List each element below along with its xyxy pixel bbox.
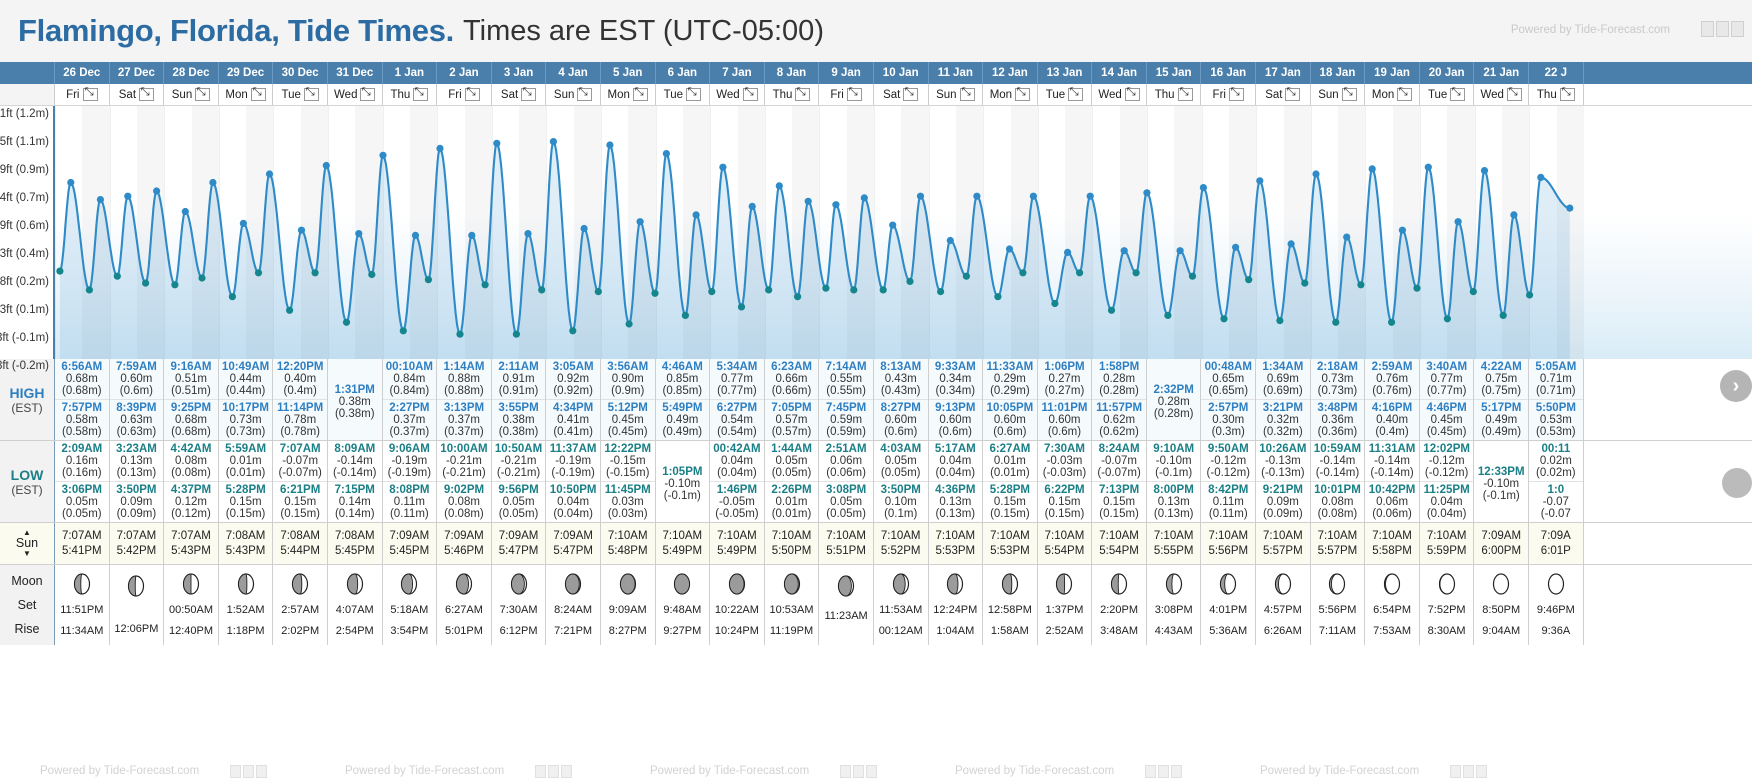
tide-time: 1:31PM (335, 384, 375, 396)
tide-time: 4:37PM (171, 484, 211, 496)
tide-time: 5:12PM (608, 402, 648, 414)
next-days-button[interactable]: › (1720, 370, 1752, 402)
sunset-time: 5:52PM (881, 545, 921, 557)
low-tide-event: 9:10AM-0.10m(-0.1m) (1147, 441, 1201, 481)
moon-phase-icon (1546, 573, 1566, 595)
tide-height-alt: (0.44m) (226, 385, 266, 397)
tide-height: 0.36m (1321, 414, 1353, 426)
moonset-time: 9:09AM (609, 604, 647, 616)
tide-height: 0.51m (175, 373, 207, 385)
weekday-cell[interactable]: Fri (1201, 84, 1256, 105)
date-cell[interactable]: 8 Jan (765, 62, 820, 84)
date-cell[interactable]: 21 Jan (1474, 62, 1529, 84)
weekday-cell[interactable]: Sat (1256, 84, 1311, 105)
moon-cell: 12:24PM1:04AM (929, 565, 984, 645)
tide-height: 0.38m (503, 414, 535, 426)
low-tide-event: 4:37PM0.12m(0.12m) (164, 481, 218, 522)
tide-height-alt: (-0.14m) (1370, 467, 1413, 479)
tide-height-alt: (0.11m) (390, 508, 429, 520)
flag-icon (548, 765, 559, 778)
moon-phase-icon (1218, 573, 1238, 595)
tide-height: -0.07m (1101, 455, 1137, 467)
expand-icon[interactable] (195, 88, 210, 101)
low-tide-marker (822, 285, 829, 292)
low-tide-marker (794, 293, 801, 300)
sunset-time: 5:49PM (717, 545, 757, 557)
moon-phase-icon (891, 573, 911, 595)
date-cell[interactable]: 11 Jan (929, 62, 984, 84)
tide-time: 5:49PM (662, 402, 702, 414)
high-tide-marker (524, 230, 531, 237)
tide-height: 0.08m (448, 496, 480, 508)
low-tide-marker (425, 276, 432, 283)
sunset-time: 5:55PM (1154, 545, 1194, 557)
date-cell[interactable]: 26 Dec (55, 62, 110, 84)
expand-icon[interactable] (743, 88, 758, 101)
tide-column: 2:09AM0.16m(0.16m)3:06PM0.05m(0.05m) (55, 441, 110, 522)
tide-column: 1:34AM0.69m(0.69m)3:21PM0.32m(0.32m) (1256, 359, 1311, 440)
tide-height: 0.29m (994, 373, 1026, 385)
sun-row: Sun 7:07AM5:41PM7:07AM5:42PM7:07AM5:43PM… (0, 523, 1752, 565)
moonset-time: 8:50PM (1482, 604, 1520, 616)
expand-icon[interactable] (960, 88, 975, 101)
tide-height-alt: (0.62m) (1099, 426, 1139, 438)
tide-height: 0.11m (394, 496, 425, 508)
date-cell[interactable]: 28 Dec (164, 62, 219, 84)
date-cell[interactable]: 7 Jan (710, 62, 765, 84)
date-cell[interactable]: 6 Jan (656, 62, 711, 84)
date-cell[interactable]: 29 Dec (219, 62, 274, 84)
tide-height-alt: (0.6m) (120, 385, 153, 397)
tide-height: 0.71m (1540, 373, 1572, 385)
high-tide-event: 10:49AM0.44m(0.44m) (219, 359, 273, 399)
high-tide-marker (266, 170, 273, 177)
tide-height-alt: (0.28m) (1099, 385, 1139, 397)
expand-icon[interactable] (413, 88, 428, 101)
tide-height: 0.14m (339, 496, 371, 508)
tide-time: 6:22PM (1044, 484, 1084, 496)
high-tide-marker (947, 237, 954, 244)
weekday-label: Sat (883, 89, 900, 101)
tide-time: 5:28PM (990, 484, 1030, 496)
weekday-label: Tue (281, 89, 300, 101)
tide-height-alt: (0.76m) (1372, 385, 1412, 397)
tide-time: 10:01PM (1314, 484, 1361, 496)
sunset-time: 5:54PM (1045, 545, 1085, 557)
tide-height: 0.85m (666, 373, 698, 385)
tide-height-alt: (0.6m) (1048, 426, 1081, 438)
high-tide-event: 1:06PM0.27m(0.27m) (1038, 359, 1092, 399)
tide-height-alt: (0.04m) (935, 467, 975, 479)
tide-height-alt: (0.78m) (280, 426, 320, 438)
weekday-cell[interactable]: Sat (874, 84, 929, 105)
low-tide-marker (682, 312, 689, 319)
weekday-cell[interactable]: Wed (1474, 84, 1529, 105)
weekday-label: Fri (1213, 89, 1226, 101)
weekday-cell[interactable]: Thu (1529, 84, 1584, 105)
tide-height: 0.15m (230, 496, 262, 508)
date-cell[interactable]: 19 Jan (1365, 62, 1420, 84)
tide-time: 5:17PM (1481, 402, 1521, 414)
tide-time: 00:11 (1541, 443, 1570, 455)
y-axis-tick: 0.8ft (0.2m) (0, 276, 49, 288)
tide-height: 0.69m (1267, 373, 1299, 385)
weekday-cell[interactable]: Mon (601, 84, 656, 105)
flag-icon-3[interactable] (1731, 21, 1744, 37)
weekday-cell[interactable]: Mon (219, 84, 274, 105)
moon-phase-icon (290, 573, 310, 595)
weekday-cell[interactable]: Thu (1147, 84, 1202, 105)
y-axis-tick: 2.9ft (0.9m) (0, 164, 49, 176)
date-cell[interactable]: 18 Jan (1311, 62, 1366, 84)
expand-icon[interactable] (1229, 88, 1244, 101)
low-tide-event: 9:56PM0.05m(0.05m) (492, 481, 546, 522)
high-tide-event: 3:40AM0.77m(0.77m) (1420, 359, 1474, 399)
tide-time: 00:10AM (386, 361, 433, 373)
date-cell[interactable]: 4 Jan (546, 62, 601, 84)
moon-phase-icon (727, 573, 747, 595)
high-tide-marker (663, 150, 670, 157)
tide-time: 10:17PM (222, 402, 269, 414)
sun-cell: 7:10AM5:54PM (1092, 523, 1147, 564)
tide-height: 0.65m (1212, 373, 1244, 385)
weekday-cell[interactable]: Fri (819, 84, 874, 105)
sun-cell: 7:08AM5:44PM (273, 523, 328, 564)
low-tide-marker (142, 280, 149, 287)
tide-height-alt: (0.73m) (1318, 385, 1358, 397)
tide-time: 1:14AM (444, 361, 485, 373)
moonrise-label: Rise (14, 622, 39, 636)
flag-icon (1450, 765, 1461, 778)
high-tide-event: 3:55PM0.38m(0.38m) (492, 399, 546, 440)
moonset-time: 6:54PM (1373, 604, 1411, 616)
tide-time: 00:42AM (713, 443, 760, 455)
low-tide-marker (1245, 276, 1252, 283)
tide-height-alt: (0.91m) (499, 385, 539, 397)
expand-icon[interactable] (686, 88, 701, 101)
moonrise-time: 2:02PM (281, 625, 319, 637)
date-cell[interactable]: 31 Dec (328, 62, 383, 84)
moonset-time: 12:58PM (988, 604, 1032, 616)
tide-column: 2:32PM0.28m(0.28m)2:32PM0.28m(0.28m) (1147, 359, 1202, 440)
tide-height: 0.04m (1431, 496, 1463, 508)
date-header-row: 26 Dec27 Dec28 Dec29 Dec30 Dec31 Dec1 Ja… (0, 62, 1752, 84)
date-cell[interactable]: 30 Dec (273, 62, 328, 84)
moonrise-time: 7:53AM (1373, 625, 1411, 637)
high-tide-marker (1121, 247, 1128, 254)
tide-time: 7:30AM (1044, 443, 1085, 455)
tide-height-alt: (-0.19m) (551, 467, 594, 479)
moon-cell: 10:22AM10:24PM (710, 565, 765, 645)
tide-time: 1:06PM (1044, 361, 1084, 373)
high-tide-marker (1288, 240, 1295, 247)
expand-icon[interactable] (521, 88, 536, 101)
expand-icon[interactable] (795, 88, 810, 101)
sun-label-text: Sun (16, 529, 38, 558)
high-tide-marker (1343, 234, 1350, 241)
date-cell[interactable]: 14 Jan (1092, 62, 1147, 84)
low-tide-marker (1357, 281, 1364, 288)
weekday-label: Tue (1428, 89, 1447, 101)
high-tide-event: 11:57PM0.62m(0.62m) (1092, 399, 1146, 440)
expand-icon[interactable] (1015, 88, 1030, 101)
tide-column: 12:02PM-0.12m(-0.12m)11:25PM0.04m(0.04m) (1420, 441, 1475, 522)
high-tide-marker (379, 152, 386, 159)
date-cell[interactable]: 16 Jan (1201, 62, 1256, 84)
moonrise-time: 7:11AM (1319, 625, 1356, 637)
tide-height: 0.11m (1213, 496, 1244, 508)
flag-icon (256, 765, 267, 778)
low-tide-marker (1220, 315, 1227, 322)
footer-flag-icons (535, 765, 572, 778)
high-tide-marker (805, 198, 812, 205)
weekday-cell[interactable]: Fri (437, 84, 492, 105)
expand-icon[interactable] (1285, 88, 1300, 101)
tide-height: 0.34m (939, 373, 971, 385)
high-tide-marker (436, 145, 443, 152)
date-cell[interactable]: 15 Jan (1147, 62, 1202, 84)
weekday-cell[interactable]: Fri (55, 84, 110, 105)
weekday-cell[interactable]: Sun (164, 84, 219, 105)
date-cell[interactable]: 12 Jan (983, 62, 1038, 84)
tide-height-alt: (0.05m) (881, 467, 921, 479)
tide-height: 0.32m (1267, 414, 1299, 426)
tide-time: 6:23AM (771, 361, 812, 373)
expand-icon[interactable] (1178, 88, 1193, 101)
moonset-time: 7:30AM (500, 604, 538, 616)
moon-phase-icon (72, 573, 92, 595)
low-tide-event: 6:21PM0.15m(0.15m) (273, 481, 327, 522)
tide-column: 1:44AM0.05m(0.05m)2:26PM0.01m(0.01m) (765, 441, 820, 522)
sunset-time: 5:59PM (1427, 545, 1467, 557)
date-cell[interactable]: 2 Jan (437, 62, 492, 84)
moonrise-time: 5:01PM (445, 625, 483, 637)
expand-icon[interactable] (577, 88, 592, 101)
tide-height-alt: (0.08m) (171, 467, 211, 479)
tide-column: 3:56AM0.90m(0.9m)5:12PM0.45m(0.45m) (601, 359, 656, 440)
low-tide-marker (1019, 269, 1026, 276)
sunrise-time: 7:08AM (335, 530, 375, 542)
page-subtitle: Times are EST (UTC-05:00) (463, 15, 824, 48)
tide-time: 9:25PM (171, 402, 211, 414)
high-tide-event: 2:59AM0.76m(0.76m) (1365, 359, 1419, 399)
tide-height: 0.84m (393, 373, 425, 385)
tide-height: 0.10m (885, 496, 917, 508)
tide-height: 0.57m (776, 414, 808, 426)
expand-icon[interactable] (1507, 88, 1522, 101)
low-tide-event: 1:0-0.07(-0.07 (1529, 481, 1583, 522)
low-tide-marker (482, 281, 489, 288)
y-axis-tick: 0.3ft (0.1m) (0, 304, 49, 316)
tide-column: 00:10AM0.84m(0.84m)2:27PM0.37m(0.37m) (383, 359, 438, 440)
tide-time: 10:42PM (1369, 484, 1416, 496)
expand-icon[interactable] (633, 88, 648, 101)
moon-cell: 4:01PM5:36AM (1201, 565, 1256, 645)
sun-cell: 7:10AM5:57PM (1256, 523, 1311, 564)
tide-height-alt: (0.02m) (1536, 467, 1576, 479)
low-tide-marker (1500, 312, 1507, 319)
language-flags[interactable] (1701, 21, 1744, 37)
tide-height: 0.01m (776, 496, 808, 508)
tide-height: 0.49m (1485, 414, 1517, 426)
tide-time: 4:34PM (553, 402, 593, 414)
flag-icon (1171, 765, 1182, 778)
tide-column: 7:14AM0.55m(0.55m)7:45PM0.59m(0.59m) (819, 359, 874, 440)
high-tide-marker (468, 232, 475, 239)
high-tide-marker (1481, 167, 1488, 174)
expand-icon[interactable] (251, 88, 266, 101)
sun-label: Sun (0, 523, 55, 564)
expand-icon[interactable] (1450, 88, 1465, 101)
high-tide-marker (973, 193, 980, 200)
expand-icon[interactable] (465, 88, 480, 101)
date-cell[interactable]: 1 Jan (383, 62, 438, 84)
weekday-cell[interactable]: Thu (765, 84, 820, 105)
low-tide-event: 00:42AM0.04m(0.04m) (710, 441, 764, 481)
weekday-cell[interactable]: Mon (983, 84, 1038, 105)
tide-time: 1:44AM (771, 443, 812, 455)
low-tide-marker (1413, 285, 1420, 292)
weekday-cell[interactable]: Thu (383, 84, 438, 105)
expand-icon[interactable] (360, 88, 375, 101)
flag-icon (243, 765, 254, 778)
weekday-cell[interactable]: Sat (492, 84, 547, 105)
low-tide-marker (538, 286, 545, 293)
tide-curve (55, 106, 1752, 359)
expand-icon[interactable] (83, 88, 98, 101)
date-cell[interactable]: 22 J (1529, 62, 1584, 84)
sunrise-time: 7:10AM (990, 530, 1030, 542)
low-tide-marker (56, 268, 63, 275)
tide-height-alt: (0.04m) (717, 467, 757, 479)
weekday-cell[interactable]: Sun (929, 84, 984, 105)
moon-phase-icon (126, 575, 146, 597)
weekday-cell[interactable]: Wed (1092, 84, 1147, 105)
sunrise-time: 7:10AM (608, 530, 648, 542)
date-cell[interactable]: 20 Jan (1420, 62, 1475, 84)
flag-icon-1[interactable] (1701, 21, 1714, 37)
expand-icon[interactable] (847, 88, 862, 101)
tide-height-alt: (0.04m) (553, 508, 593, 520)
sun-cell: 7:10AM5:55PM (1147, 523, 1202, 564)
tide-time: 11:14PM (277, 402, 323, 414)
tide-column: 4:03AM0.05m(0.05m)3:50PM0.10m(0.1m) (874, 441, 929, 522)
tide-time: 7:13PM (1099, 484, 1139, 496)
expand-icon[interactable] (139, 88, 154, 101)
low-tide-event: 3:08PM0.05m(0.05m) (819, 481, 873, 522)
tide-height-alt: (0.66m) (772, 385, 812, 397)
tide-height-alt: (0.53m) (1536, 426, 1576, 438)
expand-icon[interactable] (1560, 88, 1575, 101)
date-cell[interactable]: 17 Jan (1256, 62, 1311, 84)
date-cell[interactable]: 5 Jan (601, 62, 656, 84)
tide-height-alt: (0.32m) (1263, 426, 1303, 438)
tide-height: 0.40m (284, 373, 316, 385)
date-cell[interactable]: 13 Jan (1038, 62, 1093, 84)
weekday-cell[interactable]: Tue (1420, 84, 1475, 105)
tide-time: 3:21PM (1263, 402, 1303, 414)
tide-time: 1:0 (1548, 484, 1565, 496)
sun-cell: 7:08AM5:43PM (219, 523, 274, 564)
sun-cell: 7:10AM5:58PM (1365, 523, 1420, 564)
weekday-cell[interactable]: Sat (110, 84, 165, 105)
weekday-cell[interactable]: Wed (710, 84, 765, 105)
tide-height-alt: (-0.14m) (1316, 467, 1359, 479)
tide-height: -0.21m (446, 455, 482, 467)
moonset-time: 5:56PM (1318, 604, 1356, 616)
expand-icon[interactable] (304, 88, 319, 101)
tide-height-alt: (-0.1m) (1483, 490, 1520, 502)
tide-height-alt: (0.45m) (1427, 426, 1467, 438)
expand-icon[interactable] (1342, 88, 1357, 101)
sun-cell: 7:10AM5:49PM (656, 523, 711, 564)
tide-column: 12:33PM-0.10m(-0.1m)12:33PM-0.10m(-0.1m) (1474, 441, 1529, 522)
weekday-cell[interactable]: Sun (1311, 84, 1366, 105)
high-tide-event: 8:39PM0.63m(0.63m) (110, 399, 164, 440)
high-tide-marker (1566, 205, 1573, 212)
moon-cell: 6:27AM5:01PM (437, 565, 492, 645)
sunset-time: 5:42PM (117, 545, 157, 557)
tide-height-alt: (0.15m) (1045, 508, 1085, 520)
sunrise-time: 7:08AM (280, 530, 320, 542)
moonrise-time: 2:52AM (1046, 625, 1084, 637)
high-tide-marker (1232, 244, 1239, 251)
sunrise-time: 7:10AM (1372, 530, 1412, 542)
tide-time: 11:25PM (1424, 484, 1470, 496)
high-tide-event: 10:17PM0.73m(0.73m) (219, 399, 273, 440)
tide-column: 2:59AM0.76m(0.76m)4:16PM0.40m(0.4m) (1365, 359, 1420, 440)
tide-height-alt: (0.15m) (990, 508, 1030, 520)
weekday-cell[interactable]: Mon (1365, 84, 1420, 105)
weekday-cell[interactable]: Sun (546, 84, 601, 105)
expand-icon[interactable] (903, 88, 918, 101)
footer-flag-icons (230, 765, 267, 778)
date-cell[interactable]: 9 Jan (819, 62, 874, 84)
tide-time: 2:26PM (771, 484, 811, 496)
tide-height: 0.40m (1376, 414, 1408, 426)
date-cell[interactable]: 10 Jan (874, 62, 929, 84)
sunset-time: 5:49PM (663, 545, 703, 557)
scroll-handle[interactable] (1722, 468, 1752, 498)
flag-icon-2[interactable] (1716, 21, 1729, 37)
weekday-cell[interactable]: Wed (328, 84, 383, 105)
tide-height-alt: (0.75m) (1481, 385, 1521, 397)
weekday-cell[interactable]: Tue (273, 84, 328, 105)
moon-phase-icon (1273, 573, 1293, 595)
tide-time: 12:33PM (1478, 466, 1525, 478)
expand-icon[interactable] (1397, 88, 1412, 101)
high-tide-event: 1:31PM0.38m(0.38m) (328, 382, 382, 423)
date-cell[interactable]: 3 Jan (492, 62, 547, 84)
weekday-cell[interactable]: Tue (656, 84, 711, 105)
high-tide-marker (581, 225, 588, 232)
date-cell[interactable]: 27 Dec (110, 62, 165, 84)
sunset-time: 5:58PM (1372, 545, 1412, 557)
weekday-cell[interactable]: Tue (1038, 84, 1093, 105)
moon-cell: 2:57AM2:02PM (273, 565, 328, 645)
sunset-time: 5:50PM (772, 545, 812, 557)
expand-icon[interactable] (1125, 88, 1140, 101)
high-tide-event: 8:13AM0.43m(0.43m) (874, 359, 928, 399)
tide-time: 11:57PM (1096, 402, 1142, 414)
high-tide-event: 3:05AM0.92m(0.92m) (546, 359, 600, 399)
low-tide-event: 11:37AM-0.19m(-0.19m) (546, 441, 600, 481)
tide-time: 5:05AM (1535, 361, 1576, 373)
low-tide-event: 1:44AM0.05m(0.05m) (765, 441, 819, 481)
expand-icon[interactable] (1068, 88, 1083, 101)
moon-phase-icon (1054, 573, 1074, 595)
weekday-label: Sat (119, 89, 136, 101)
